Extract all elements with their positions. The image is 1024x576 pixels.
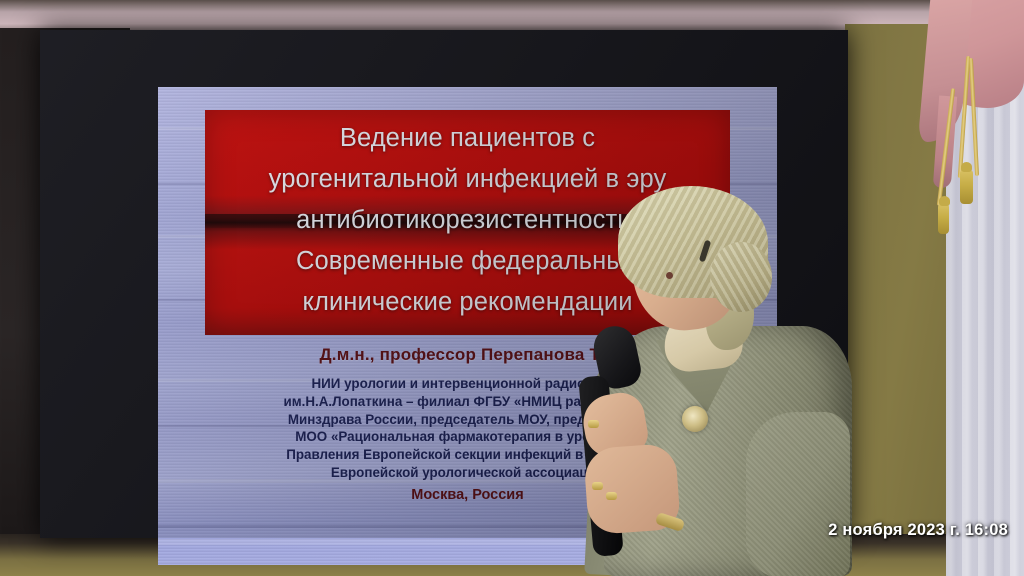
slide-title-line-1: Ведение пациентов с	[205, 118, 730, 159]
speaker-hair-bun	[710, 242, 772, 312]
speaker-earring	[666, 272, 673, 279]
speaker-ring	[592, 482, 603, 490]
tassel-knot	[961, 162, 972, 172]
sheer-curtain	[946, 52, 1024, 576]
speaker-brooch	[682, 406, 708, 432]
speaker-right-sleeve	[746, 412, 850, 576]
curtain-tassel	[960, 170, 973, 204]
slide-scan-band	[158, 127, 777, 130]
curtain-tassel	[938, 204, 949, 234]
speaker-ring	[588, 420, 599, 428]
camera-timestamp: 2 ноября 2023 г. 16:08	[828, 521, 1008, 540]
presentation-photo-scene: Ведение пациентов с урогенитальной инфек…	[0, 0, 1024, 576]
speaker-ring	[606, 492, 617, 500]
tassel-knot	[939, 196, 950, 206]
speaker-figure	[560, 180, 880, 576]
